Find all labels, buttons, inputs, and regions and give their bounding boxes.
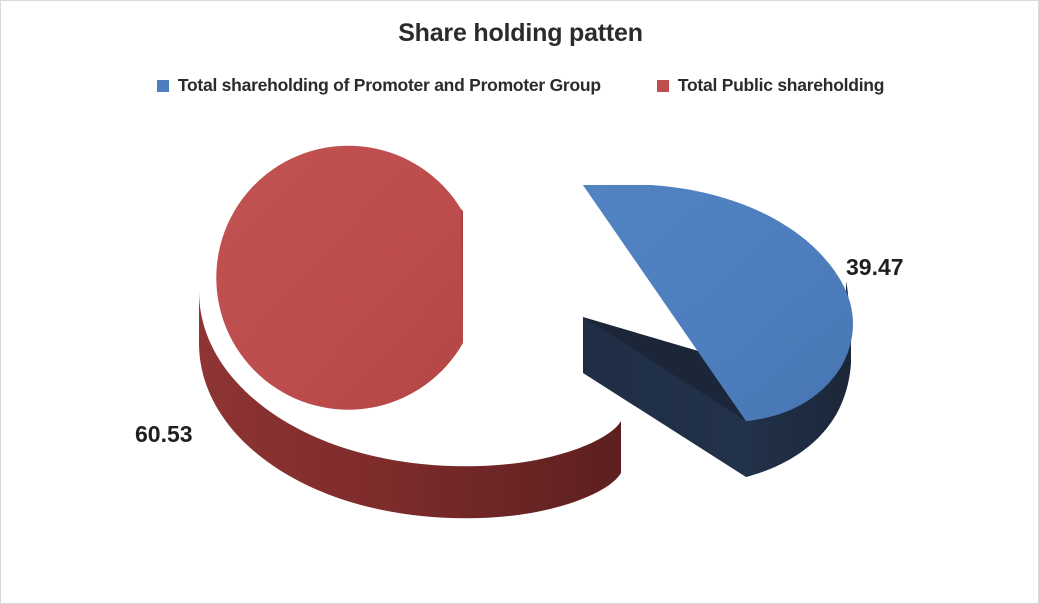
pie-slice-public-top[interactable] [216,146,463,410]
data-label-promoter: 39.47 [846,254,904,281]
data-label-public: 60.53 [135,421,193,448]
pie-chart-graphic [1,1,1039,604]
chart-container: Share holding patten Total shareholding … [0,0,1039,604]
